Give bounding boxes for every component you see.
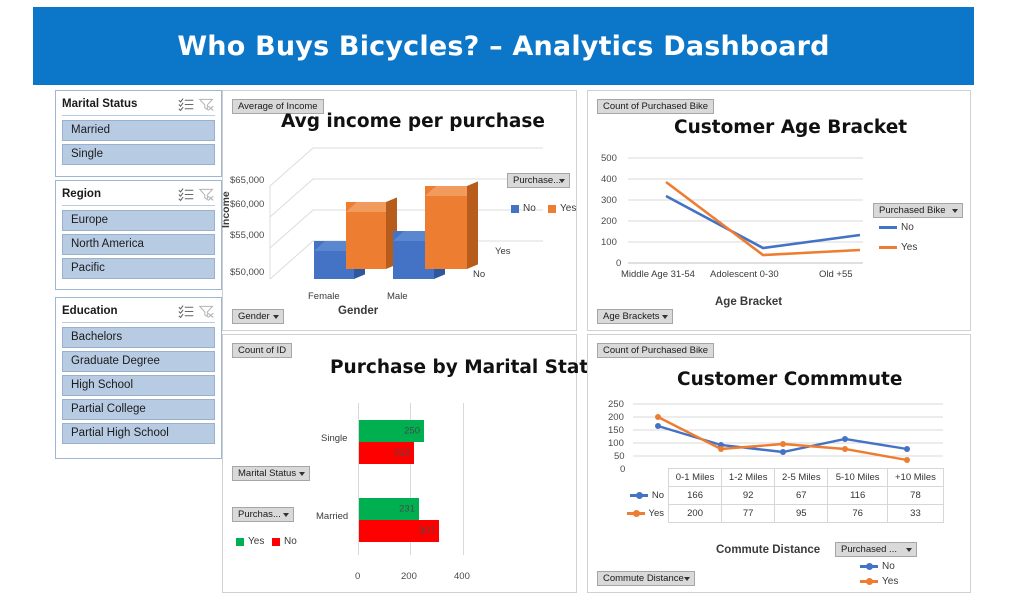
col-header-3: 5-10 Miles — [828, 469, 888, 487]
slicer-header: Marital Status — [62, 95, 215, 113]
col-header-0: 0-1 Miles — [669, 469, 722, 487]
x-tick-0: 0 — [355, 571, 360, 582]
cell-no-0: 166 — [669, 487, 722, 505]
legend-label-yes: Yes — [248, 536, 264, 547]
legend-label-no: No — [882, 561, 895, 572]
y-cat-single: Single — [321, 433, 347, 444]
pivot-axis-button-age-brackets[interactable]: Age Brackets — [597, 309, 673, 324]
cell-no-1: 92 — [722, 487, 775, 505]
y-tick-2: $60,000 — [230, 199, 264, 210]
cell-yes-0: 200 — [669, 505, 722, 523]
clear-filter-icon[interactable] — [198, 304, 215, 319]
x-cat-female: Female — [308, 291, 340, 302]
pivot-axis-button-label: Marital Status — [238, 468, 296, 479]
gridline-400 — [463, 403, 464, 555]
z-cat-yes: Yes — [495, 246, 511, 257]
multi-select-icon[interactable] — [178, 187, 195, 202]
legend-item-no: No — [511, 203, 536, 214]
x-tick-400: 400 — [454, 571, 470, 582]
chevron-down-icon — [273, 315, 279, 319]
cell-yes-4: 33 — [887, 505, 943, 523]
commute-data-table: 0-1 Miles 1-2 Miles 2-5 Miles 5-10 Miles… — [612, 468, 944, 523]
slicer-item-graduate-degree[interactable]: Graduate Degree — [62, 351, 215, 372]
legend-label-no: No — [901, 222, 914, 233]
slicer-education[interactable]: Education Bachelors Graduate Degree High… — [55, 297, 222, 459]
x-axis-label-age-bracket: Age Bracket — [715, 296, 782, 308]
chevron-down-icon — [283, 513, 289, 517]
slicer-header: Education — [62, 302, 215, 320]
slicer-item-bachelors[interactable]: Bachelors — [62, 327, 215, 348]
col-header-2: 2-5 Miles — [775, 469, 828, 487]
slicer-title: Region — [62, 188, 175, 200]
chart-panel-customer-commute: Count of Purchased Bike Customer Commmut… — [587, 334, 971, 593]
slicer-marital-status[interactable]: Marital Status Married Single — [55, 90, 222, 177]
chart-title-purchase-marital: Purchase by Marital Status — [330, 357, 612, 378]
pivot-legend-button-label: Purchas... — [238, 509, 281, 520]
legend-swatch-yes — [548, 205, 556, 213]
cell-yes-2: 95 — [775, 505, 828, 523]
legend-label-yes: Yes — [882, 576, 898, 587]
table-row: Yes 200 77 95 76 33 — [612, 505, 944, 523]
x-cat-middle-age: Middle Age 31-54 — [621, 269, 695, 280]
bar-value-single-no: 212 — [394, 448, 410, 459]
legend-item-yes: Yes — [860, 576, 898, 587]
bar-value-married-yes: 231 — [399, 504, 415, 515]
legend-line-no — [630, 494, 648, 497]
table-corner — [612, 469, 669, 487]
dashboard-root: Who Buys Bicycles? – Analytics Dashboard… — [0, 0, 1024, 597]
bar-value-married-no: 307 — [419, 526, 435, 537]
z-cat-no: No — [473, 269, 485, 280]
slicer-item-single[interactable]: Single — [62, 144, 215, 165]
slicer-header: Region — [62, 185, 215, 203]
row-label-yes: Yes — [649, 508, 665, 519]
pivot-axis-button-label: Age Brackets — [603, 311, 660, 322]
chevron-down-icon — [299, 472, 305, 476]
slicer-item-married[interactable]: Married — [62, 120, 215, 141]
cell-no-3: 116 — [828, 487, 888, 505]
chart-panel-purchase-marital: Count of ID Purchase by Marital Status S… — [222, 334, 577, 593]
multi-select-icon[interactable] — [178, 304, 195, 319]
slicer-region[interactable]: Region Europe North America Pacific — [55, 180, 222, 290]
clear-filter-icon[interactable] — [198, 97, 215, 112]
pivot-value-button-id[interactable]: Count of ID — [232, 343, 292, 358]
pivot-legend-button-purchased-bike[interactable]: Purchased Bike — [873, 203, 963, 218]
slicer-item-high-school[interactable]: High School — [62, 375, 215, 396]
chart-panel-age-bracket: Count of Purchased Bike Customer Age Bra… — [587, 90, 971, 331]
bar-married-no: 307 — [359, 520, 439, 542]
chevron-down-icon — [684, 577, 690, 581]
row-header-no: No — [612, 487, 669, 505]
pivot-legend-button-label: Purchased Bike — [879, 205, 946, 216]
y-axis-label-income: Income — [220, 191, 232, 228]
legend-swatch-no — [511, 205, 519, 213]
x-tick-200: 200 — [401, 571, 417, 582]
chevron-down-icon — [952, 209, 958, 213]
legend-item-yes: Yes — [236, 536, 264, 547]
legend-item-yes: Yes — [548, 203, 576, 214]
pivot-legend-button-purchase[interactable]: Purchas... — [232, 507, 294, 522]
slicer-item-partial-high-school[interactable]: Partial High School — [62, 423, 215, 444]
pivot-axis-button-commute-distance[interactable]: Commute Distance — [597, 571, 695, 586]
legend-item-no: No — [860, 561, 895, 572]
page-title: Who Buys Bicycles? – Analytics Dashboard — [177, 31, 829, 62]
pivot-axis-button-label: Gender — [238, 311, 270, 322]
bar-single-no: 212 — [359, 442, 414, 464]
pivot-axis-button-gender[interactable]: Gender — [232, 309, 284, 324]
chevron-down-icon — [906, 548, 912, 552]
cell-yes-3: 76 — [828, 505, 888, 523]
bar-male-yes — [425, 186, 467, 269]
bar-value-single-yes: 250 — [404, 426, 420, 437]
legend-swatch-no — [272, 538, 280, 546]
clear-filter-icon[interactable] — [198, 187, 215, 202]
cell-no-4: 78 — [887, 487, 943, 505]
y-cat-married: Married — [316, 511, 348, 522]
legend-swatch-yes — [236, 538, 244, 546]
legend-line-no — [879, 226, 897, 229]
dashboard-header: Who Buys Bicycles? – Analytics Dashboard — [33, 7, 974, 85]
legend-label-yes: Yes — [560, 203, 576, 214]
x-cat-old: Old +55 — [819, 269, 853, 280]
x-cat-male: Male — [387, 291, 408, 302]
slicer-item-partial-college[interactable]: Partial College — [62, 399, 215, 420]
cell-no-2: 67 — [775, 487, 828, 505]
multi-select-icon[interactable] — [178, 97, 195, 112]
pivot-axis-button-marital-status[interactable]: Marital Status — [232, 466, 310, 481]
chevron-down-icon — [662, 315, 668, 319]
chart-panel-avg-income: Average of Income Avg income per purchas… — [222, 90, 577, 331]
divider — [62, 322, 215, 323]
slicer-item-pacific[interactable]: Pacific — [62, 258, 215, 279]
slicer-item-north-america[interactable]: North America — [62, 234, 215, 255]
x-cat-adolescent: Adolescent 0-30 — [710, 269, 779, 280]
y-tick-1: $55,000 — [230, 230, 264, 241]
x-axis-label-commute-distance: Commute Distance — [716, 544, 820, 556]
y-tick-0: $50,000 — [230, 267, 264, 278]
legend-line-yes — [879, 246, 897, 249]
bar-married-yes: 231 — [359, 498, 419, 520]
x-axis-label-gender: Gender — [338, 305, 378, 317]
legend-line-yes — [627, 512, 645, 515]
pivot-legend-button-purchased[interactable]: Purchased ... — [835, 542, 917, 557]
legend-label-yes: Yes — [901, 242, 917, 253]
legend-item-no: No — [879, 222, 914, 233]
chevron-down-icon — [559, 179, 565, 183]
y-tick-3: $65,000 — [230, 175, 264, 186]
legend-item-yes: Yes — [879, 242, 917, 253]
legend-line-no — [860, 565, 878, 568]
cell-yes-1: 77 — [722, 505, 775, 523]
table-row: No 166 92 67 116 78 — [612, 487, 944, 505]
slicer-title: Marital Status — [62, 98, 175, 110]
bar-female-yes — [346, 202, 386, 269]
divider — [62, 115, 215, 116]
col-header-4: +10 Miles — [887, 469, 943, 487]
legend-line-yes — [860, 580, 878, 583]
divider — [62, 205, 215, 206]
legend-item-no: No — [272, 536, 297, 547]
bar-single-yes: 250 — [359, 420, 424, 442]
col-header-1: 1-2 Miles — [722, 469, 775, 487]
slicer-item-europe[interactable]: Europe — [62, 210, 215, 231]
table-row-header: 0-1 Miles 1-2 Miles 2-5 Miles 5-10 Miles… — [612, 469, 944, 487]
row-label-no: No — [652, 490, 664, 501]
slicer-title: Education — [62, 305, 175, 317]
pivot-legend-button-label: Purchased ... — [841, 544, 897, 555]
pivot-axis-button-label: Commute Distance — [603, 573, 684, 584]
legend-label-no: No — [284, 536, 297, 547]
pivot-legend-button-label: Purchase... — [513, 175, 561, 186]
pivot-legend-button-purchase[interactable]: Purchase... — [507, 173, 570, 188]
row-header-yes: Yes — [612, 505, 669, 523]
legend-label-no: No — [523, 203, 536, 214]
